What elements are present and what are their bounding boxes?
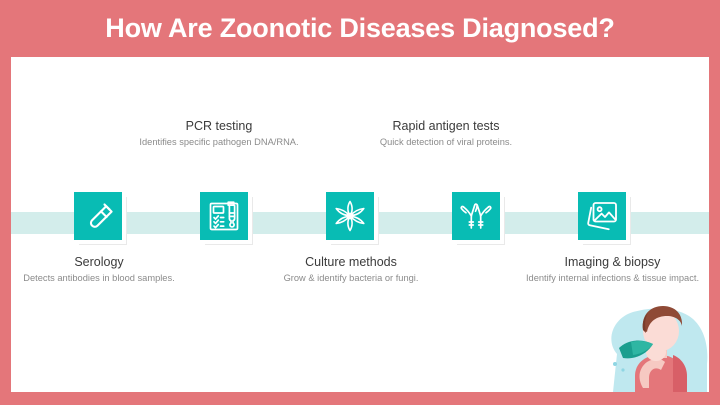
test-tube-icon	[74, 192, 122, 240]
step-tile-imaging-biopsy[interactable]	[578, 192, 626, 240]
tile-background	[74, 192, 122, 240]
droplet	[613, 362, 617, 366]
step-tile-serology[interactable]	[74, 192, 122, 240]
step-heading: Serology	[11, 255, 187, 270]
title-band: How Are Zoonotic Diseases Diagnosed?	[0, 0, 720, 57]
step-tile-rapid-antigen-tests[interactable]	[452, 192, 500, 240]
caption-imaging-biopsy: Imaging & biopsy Identify internal infec…	[516, 255, 709, 285]
tile-background	[326, 192, 374, 240]
page-title: How Are Zoonotic Diseases Diagnosed?	[105, 13, 614, 44]
tile-background	[578, 192, 626, 240]
slide-root: How Are Zoonotic Diseases Diagnosed? PCR…	[0, 0, 720, 405]
pcr-report-icon	[200, 192, 248, 240]
step-heading: Imaging & biopsy	[516, 255, 709, 270]
content-panel: PCR testing Identifies specific pathogen…	[11, 57, 709, 392]
photo-image-icon	[578, 192, 626, 240]
step-description: Grow & identify bacteria or fungi.	[265, 273, 437, 285]
step-heading: Culture methods	[265, 255, 437, 270]
antibody-icon	[452, 192, 500, 240]
step-description: Detects antibodies in blood samples.	[11, 273, 187, 285]
step-tile-pcr-testing[interactable]	[200, 192, 248, 240]
caption-culture-methods: Culture methods Grow & identify bacteria…	[265, 255, 437, 285]
step-description: Identify internal infections & tissue im…	[516, 273, 709, 285]
microbe-icon	[326, 192, 374, 240]
step-tile-culture-methods[interactable]	[326, 192, 374, 240]
droplet	[621, 368, 624, 371]
tile-background	[452, 192, 500, 240]
tile-background	[200, 192, 248, 240]
caption-serology: Serology Detects antibodies in blood sam…	[11, 255, 187, 285]
person-sneezing-illustration	[599, 292, 709, 392]
